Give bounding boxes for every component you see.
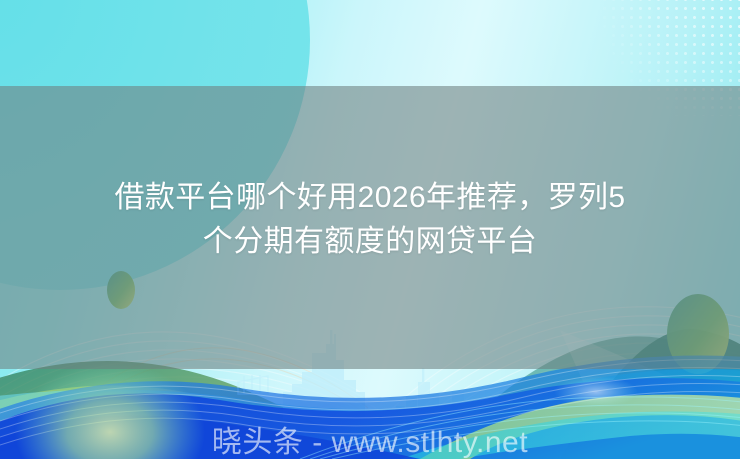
site-watermark: 晓头条 - www.stlhty.net bbox=[0, 421, 740, 459]
page-title: 借款平台哪个好用2026年推荐，罗列5 个分期有额度的网贷平台 bbox=[0, 176, 740, 264]
cover-image-canvas: 借款平台哪个好用2026年推荐，罗列5 个分期有额度的网贷平台 晓头条 - ww… bbox=[0, 0, 740, 459]
